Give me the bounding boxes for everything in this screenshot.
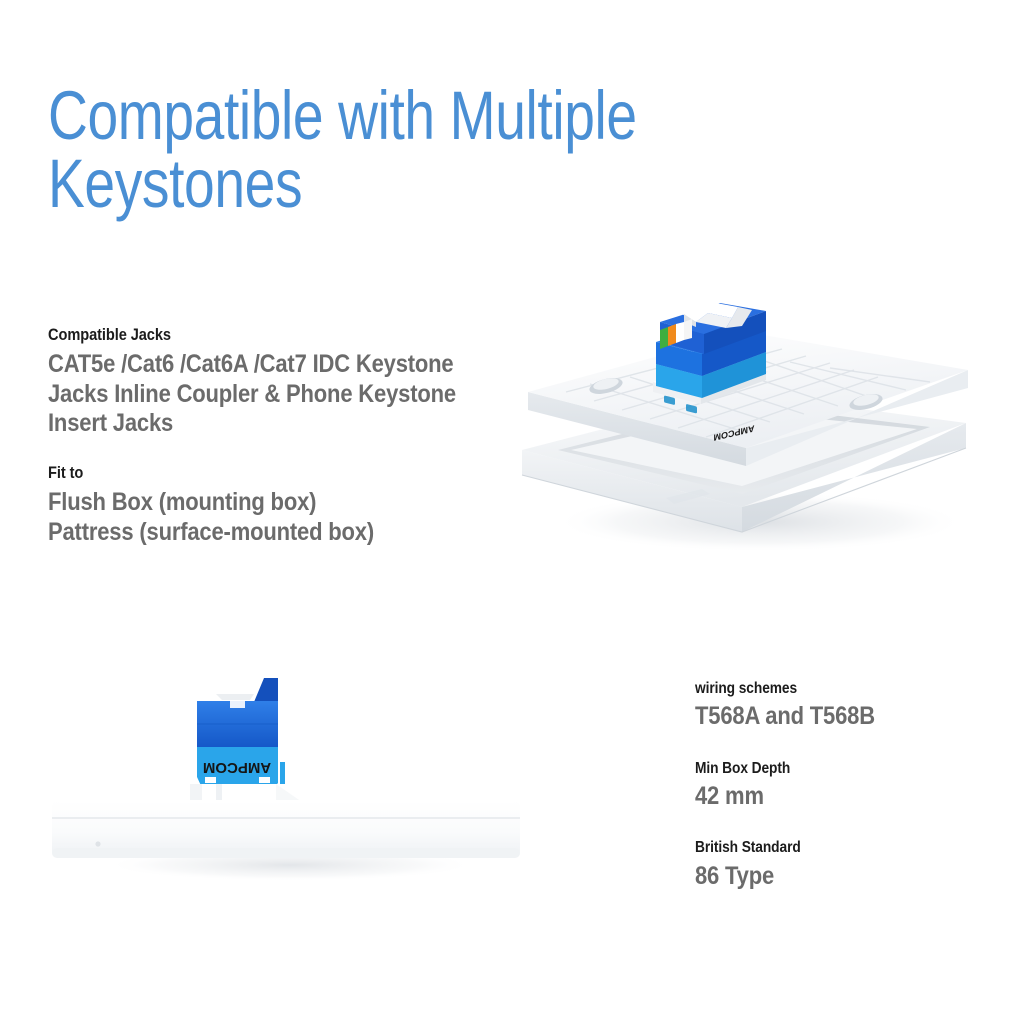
spec-value-wiring-schemes: T568A and T568B (695, 702, 977, 732)
spec-value-min-box-depth: 42 mm (695, 782, 977, 812)
spec-label-min-box-depth: Min Box Depth (695, 759, 970, 778)
product-image-faceplate-side-profile: AMPCOM (40, 650, 540, 890)
page-title: Compatible with Multiple Keystones (48, 82, 752, 217)
infographic-page: Compatible with Multiple Keystones Compa… (0, 0, 1024, 1024)
spec-value-british-standard: 86 Type (695, 862, 977, 892)
spec-group-wiring-schemes: wiring schemes T568A and T568B (695, 679, 1015, 732)
spec-group-british-standard: British Standard 86 Type (695, 838, 1015, 891)
jack-brand-text: AMPCOM (203, 759, 271, 776)
technical-spec-list: wiring schemes T568A and T568B Min Box D… (695, 679, 1015, 891)
faceplate-slab-side (52, 800, 520, 858)
spec-label-wiring-schemes: wiring schemes (695, 679, 970, 698)
spec-group-min-box-depth: Min Box Depth 42 mm (695, 759, 1015, 812)
svg-text:A: A (666, 270, 671, 271)
spec-label-british-standard: British Standard (695, 838, 970, 857)
keystone-jack-module-side: AMPCOM (190, 678, 302, 802)
faceplate-screw-mark (95, 841, 100, 846)
product-image-faceplate-isometric: AMPCOM (470, 270, 1010, 560)
